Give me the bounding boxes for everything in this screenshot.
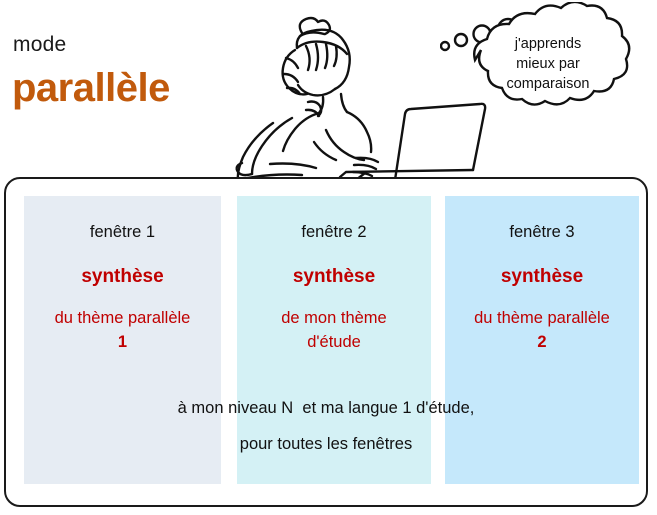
window-column-2[interactable]: fenêtre 2 synthèse de mon thème d'étude xyxy=(237,196,431,484)
mode-label: mode xyxy=(13,33,66,57)
page-title: parallèle xyxy=(12,66,170,111)
window-1-description-line-1: du thème parallèle xyxy=(55,309,191,327)
window-1-synthesis-label: synthèse xyxy=(24,266,221,288)
window-3-synthesis-label: synthèse xyxy=(445,266,639,288)
window-2-description: de mon thème d'étude xyxy=(237,306,431,354)
window-3-description-line-2: 2 xyxy=(537,333,546,351)
window-3-description-line-1: du thème parallèle xyxy=(474,309,610,327)
window-3-description: du thème parallèle 2 xyxy=(445,306,639,354)
window-2-description-line-1: de mon thème xyxy=(281,309,386,327)
window-1-description: du thème parallèle 1 xyxy=(24,306,221,354)
window-2-title: fenêtre 2 xyxy=(237,222,431,242)
window-column-3[interactable]: fenêtre 3 synthèse du thème parallèle 2 xyxy=(445,196,639,484)
windows-panel: fenêtre 1 synthèse du thème parallèle 1 … xyxy=(4,177,648,507)
thought-line-2: mieux par xyxy=(458,54,638,74)
window-2-description-line-2: d'étude xyxy=(307,333,361,351)
window-column-1[interactable]: fenêtre 1 synthèse du thème parallèle 1 xyxy=(24,196,221,484)
window-1-title: fenêtre 1 xyxy=(24,222,221,242)
thought-line-3: comparaison xyxy=(458,74,638,94)
thought-line-1: j'apprends xyxy=(458,34,638,54)
window-2-synthesis-label: synthèse xyxy=(237,266,431,288)
window-3-title: fenêtre 3 xyxy=(445,222,639,242)
thought-bubble-text: j'apprends mieux par comparaison xyxy=(458,34,638,94)
window-1-description-line-2: 1 xyxy=(118,333,127,351)
